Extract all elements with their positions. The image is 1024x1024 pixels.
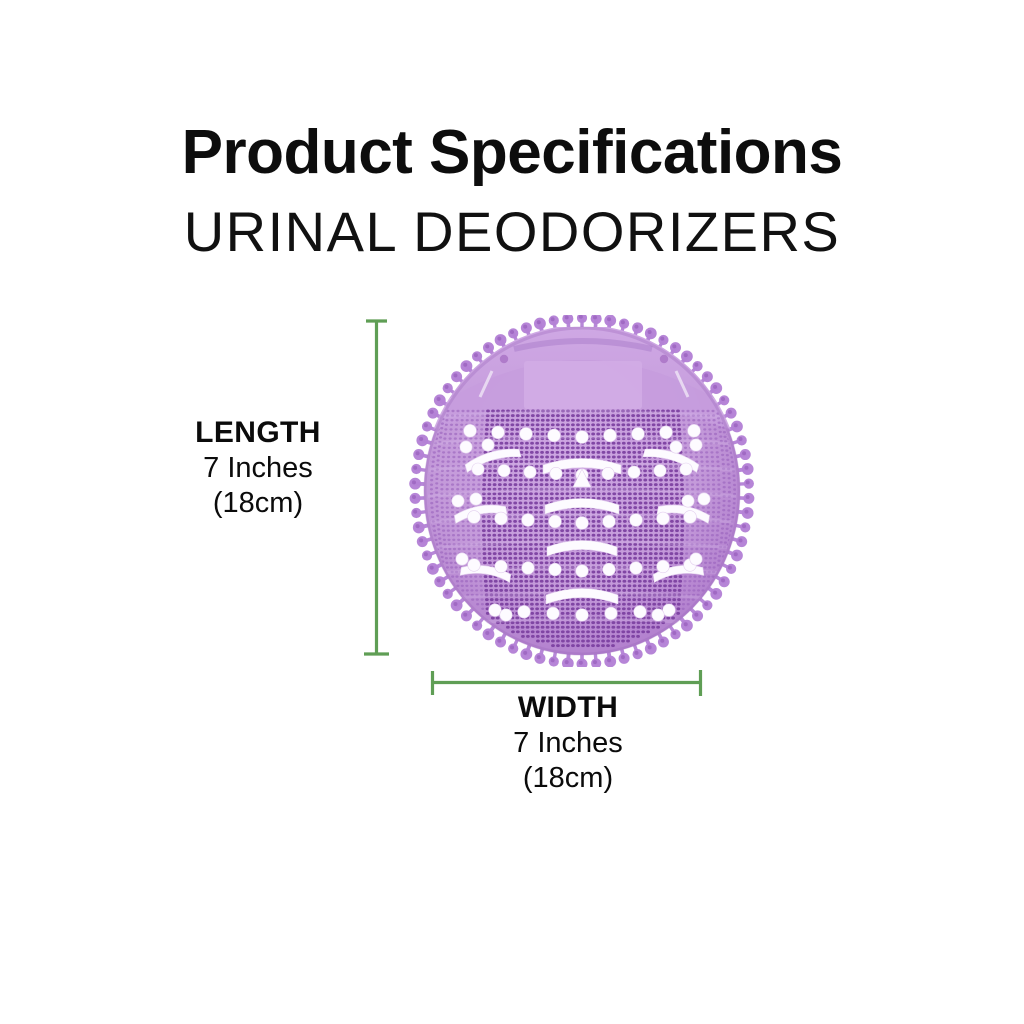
banner-hole-left xyxy=(500,355,508,363)
page-subtitle: URINAL DEODORIZERS xyxy=(0,200,1024,264)
heading-block: Product Specifications URINAL DEODORIZER… xyxy=(0,118,1024,264)
product-image-urinal-screen xyxy=(396,315,768,667)
banner-hole-right xyxy=(660,355,668,363)
length-label-metric: (18cm) xyxy=(128,486,388,521)
product-label-patch xyxy=(524,361,642,409)
length-callout: LENGTH 7 Inches (18cm) xyxy=(128,415,388,521)
width-callout: WIDTH 7 Inches (18cm) xyxy=(436,690,700,796)
width-label-title: WIDTH xyxy=(436,690,700,726)
width-label-value: 7 Inches xyxy=(436,726,700,761)
width-label-metric: (18cm) xyxy=(436,761,700,796)
page-title: Product Specifications xyxy=(0,118,1024,188)
length-label-value: 7 Inches xyxy=(128,451,388,486)
length-label-title: LENGTH xyxy=(128,415,388,451)
